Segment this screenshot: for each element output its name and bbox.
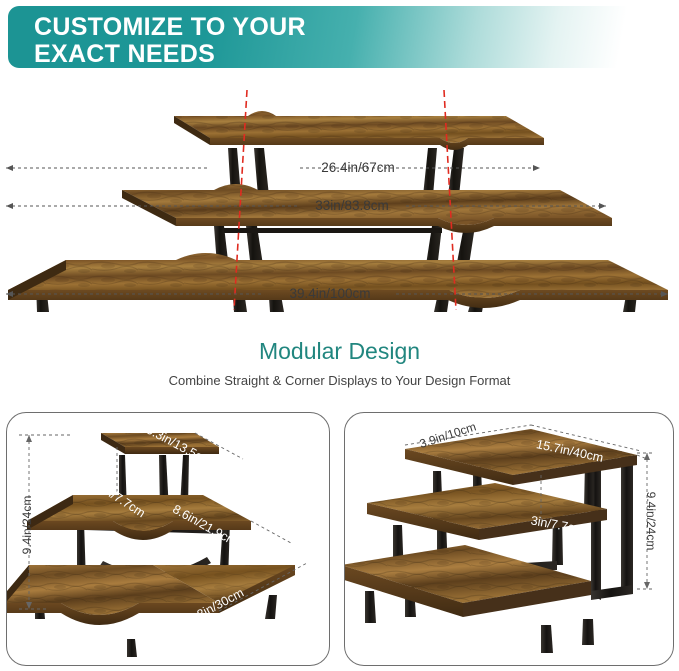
- straight-dim-overall-height: 9.4in/24cm: [644, 492, 658, 551]
- headline-text: CUSTOMIZE TO YOUR EXACT NEEDS: [34, 14, 306, 68]
- section-title: Modular Design: [0, 336, 679, 366]
- dim-label-bottom: 39.4in/100cm: [289, 286, 370, 301]
- hero-bottom-tier: [8, 253, 668, 312]
- straight-right-frame: [591, 451, 633, 600]
- section-heading-block: Modular Design Combine Straight & Corner…: [0, 336, 679, 392]
- corner-display-panel: 9.4in/24cm 5.3in/13.5cm 3in/7.7cm 8.6in/…: [6, 412, 330, 666]
- headline-banner: CUSTOMIZE TO YOUR EXACT NEEDS: [8, 6, 671, 68]
- corner-bottom-tier: [7, 565, 295, 657]
- corner-dim-overall-height: 9.4in/24cm: [20, 496, 34, 555]
- dim-label-middle: 33in/83.8cm: [315, 198, 389, 213]
- section-subtitle: Combine Straight & Corner Displays to Yo…: [0, 370, 679, 392]
- hero-top-tier: [174, 111, 544, 196]
- straight-display-panel: 3.9in/10cm 15.7in/40cm 3in/7.7cm 9.4in/2…: [344, 412, 674, 666]
- dim-label-top: 26.4in/67cm: [321, 160, 395, 175]
- hero-illustration: 26.4in/67cm 33in/83.8cm 39.4in/100cm: [0, 78, 679, 328]
